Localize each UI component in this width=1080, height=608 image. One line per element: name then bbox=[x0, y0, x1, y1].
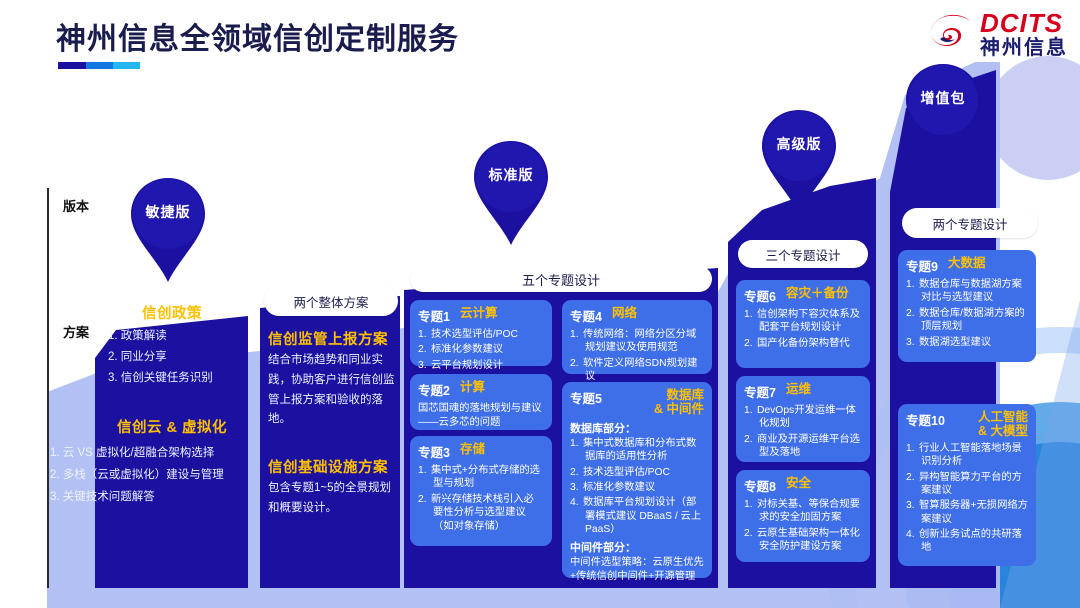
topic-card-1-no: 专题1 bbox=[418, 306, 450, 325]
topic-card-8-topic: 安全 bbox=[786, 476, 811, 490]
topic-card-9[interactable]: 专题9 大数据 1.数据仓库与数据湖方案对比与选型建议 2.数据仓库/数据湖方案… bbox=[898, 250, 1036, 362]
list-item: 1.行业人工智能落地场景识别分析 bbox=[906, 442, 1028, 469]
policy-item-2: 2. 同业分享 bbox=[108, 347, 167, 367]
axis-label-version: 版本 bbox=[63, 196, 89, 215]
topic-card-2-note: 国芯国魂的落地规划与建议——云多芯的问题 bbox=[418, 402, 544, 429]
topic-card-10-no: 专题10 bbox=[906, 410, 945, 429]
plan-head-infrastructure: 信创基础设施方案 bbox=[268, 456, 402, 477]
cloud-virt-item-1: 1. 云 VS 虚拟化/超融合架构选择 bbox=[50, 443, 288, 463]
list-item: 1.集中式数据库和分布式数据库的适用性分析 bbox=[570, 437, 704, 464]
topic-card-1[interactable]: 专题1 云计算 1.技术选型评估/POC 2.标准化参数建议 3.云平台规划设计 bbox=[410, 300, 552, 366]
pin-label-agile: 敏捷版 bbox=[125, 202, 211, 222]
list-item: 1.信创架构下容灾体系及配套平台规划设计 bbox=[744, 308, 862, 335]
list-item: 1.数据仓库与数据湖方案对比与选型建议 bbox=[906, 278, 1028, 305]
topic-card-5-head: 专题5 数据库 & 中间件 bbox=[570, 388, 704, 417]
topic-card-7-head: 专题7 运维 bbox=[744, 382, 862, 401]
list-item: 1.集中式+分布式存储的选型与规划 bbox=[418, 464, 544, 491]
list-item: 2.技术选型评估/POC bbox=[570, 466, 704, 479]
topic-card-2-no: 专题2 bbox=[418, 380, 450, 399]
list-item: 2.标准化参数建议 bbox=[418, 343, 544, 356]
topic-card-10[interactable]: 专题10 人工智能 & 大模型 1.行业人工智能落地场景识别分析 2.异构智能算… bbox=[898, 404, 1036, 566]
topic-card-7-topic: 运维 bbox=[786, 382, 811, 396]
list-item: 3.标准化参数建议 bbox=[570, 481, 704, 494]
pin-agile[interactable]: 敏捷版 bbox=[125, 176, 211, 284]
topic-card-5-topic: 数据库 & 中间件 bbox=[610, 388, 704, 417]
policy-item-1: 1. 政策解读 bbox=[108, 326, 167, 346]
plan-head-supervision: 信创监管上报方案 bbox=[268, 328, 402, 349]
topic-card-5-subhead-mw: 中间件部分： bbox=[570, 539, 704, 555]
topic-card-7-list: 1.DevOps开发运维一体化规划 2.商业及开源运维平台选型及落地 bbox=[744, 404, 862, 460]
list-item: 4.创新业务试点的共研落地 bbox=[906, 528, 1028, 555]
list-item: 3.数据湖选型建议 bbox=[906, 336, 1028, 349]
title-underline-rule bbox=[58, 62, 140, 69]
topic-card-6-no: 专题6 bbox=[744, 286, 776, 305]
topic-card-10-list: 1.行业人工智能落地场景识别分析 2.异构智能算力平台的方案建议 3.智算服务器… bbox=[906, 442, 1028, 555]
pin-valueadd[interactable]: 增值包 bbox=[900, 62, 986, 170]
pin-shape-icon bbox=[125, 176, 211, 284]
topic-card-1-head: 专题1 云计算 bbox=[418, 306, 544, 325]
column-overall-plans: 两个整体方案 信创监管上报方案 结合市场趋势和同业实践，协助客户进行信创监管上报… bbox=[262, 286, 402, 588]
list-item: 2.新兴存储技术栈引入必要性分析与选型建议（如对象存储） bbox=[418, 493, 544, 533]
pin-shape-icon bbox=[468, 139, 554, 247]
brand-logo: DCITS 神州信息 bbox=[928, 10, 1068, 58]
cloud-virt-item-3: 3. 关键技术问题解答 bbox=[50, 487, 288, 507]
pill-two-overall-plans[interactable]: 两个整体方案 bbox=[264, 286, 398, 316]
topic-card-5-no: 专题5 bbox=[570, 388, 602, 407]
topic-card-5-subhead-db: 数据库部分： bbox=[570, 420, 704, 436]
list-item: 1.DevOps开发运维一体化规划 bbox=[744, 404, 862, 431]
topic-card-6-topic: 容灾＋备份 bbox=[786, 286, 849, 300]
topic-card-6[interactable]: 专题6 容灾＋备份 1.信创架构下容灾体系及配套平台规划设计 2.国产化备份架构… bbox=[736, 280, 870, 368]
topic-card-8-head: 专题8 安全 bbox=[744, 476, 862, 495]
list-item: 2.软件定义网络SDN规划建议 bbox=[570, 357, 704, 384]
pill-two-topics[interactable]: 两个专题设计 bbox=[902, 208, 1038, 238]
topic-card-5[interactable]: 专题5 数据库 & 中间件 数据库部分： 1.集中式数据库和分布式数据库的适用性… bbox=[562, 382, 712, 578]
topic-card-9-list: 1.数据仓库与数据湖方案对比与选型建议 2.数据仓库/数据湖方案的顶层规划 3.… bbox=[906, 278, 1028, 349]
column-three-topics: 三个专题设计 专题6 容灾＋备份 1.信创架构下容灾体系及配套平台规划设计 2.… bbox=[732, 240, 874, 588]
pin-shape-icon bbox=[900, 62, 986, 170]
column-agile: 信创政策 1. 政策解读 2. 同业分享 3. 信创关键任务识别 信创云 & 虚… bbox=[96, 300, 248, 588]
topic-card-10-head: 专题10 人工智能 & 大模型 bbox=[906, 410, 1028, 439]
list-item: 2.数据仓库/数据湖方案的顶层规划 bbox=[906, 307, 1028, 334]
column-two-topics: 两个专题设计 专题9 大数据 1.数据仓库与数据湖方案对比与选型建议 2.数据仓… bbox=[894, 208, 1044, 588]
plan-text-infrastructure: 包含专题1~5的全景规划和概要设计。 bbox=[268, 478, 400, 518]
pin-label-valueadd: 增值包 bbox=[900, 88, 986, 108]
topic-card-8-list: 1.对标关基、等保合规要求的安全加固方案 2.云原生基础架构一体化安全防护建设方… bbox=[744, 498, 862, 554]
list-item: 4.数据库平台规划设计（部署模式建议 DBaaS / 云上PaaS） bbox=[570, 496, 704, 536]
topic-card-3-no: 专题3 bbox=[418, 442, 450, 461]
topic-card-5-list: 1.集中式数据库和分布式数据库的适用性分析 2.技术选型评估/POC 3.标准化… bbox=[570, 437, 704, 537]
axis-label-solution: 方案 bbox=[63, 322, 89, 341]
pin-label-standard: 标准版 bbox=[468, 165, 554, 185]
topic-card-3-topic: 存储 bbox=[460, 442, 485, 456]
topic-card-4[interactable]: 专题4 网络 1.传统网络：网络分区分域规划建议及使用规范 2.软件定义网络SD… bbox=[562, 300, 712, 374]
slide-canvas: 神州信息全领域信创定制服务 DCITS 神州信息 版本 方案 敏捷版 标准版 bbox=[0, 0, 1080, 608]
topic-card-10-topic: 人工智能 & 大模型 bbox=[951, 410, 1028, 439]
topic-card-6-list: 1.信创架构下容灾体系及配套平台规划设计 2.国产化备份架构替代 bbox=[744, 308, 862, 350]
page-title: 神州信息全领域信创定制服务 bbox=[56, 14, 459, 58]
topic-card-2[interactable]: 专题2 计算 国芯国魂的落地规划与建议——云多芯的问题 bbox=[410, 374, 552, 430]
plan-text-supervision: 结合市场趋势和同业实践，协助客户进行信创监管上报方案和验收的落地。 bbox=[268, 350, 400, 429]
list-item: 2.商业及开源运维平台选型及落地 bbox=[744, 433, 862, 460]
topic-card-4-list: 1.传统网络：网络分区分域规划建议及使用规范 2.软件定义网络SDN规划建议 bbox=[570, 328, 704, 384]
list-item: 2.异构智能算力平台的方案建议 bbox=[906, 471, 1028, 498]
topic-card-3-list: 1.集中式+分布式存储的选型与规划 2.新兴存储技术栈引入必要性分析与选型建议（… bbox=[418, 464, 544, 533]
topic-card-9-head: 专题9 大数据 bbox=[906, 256, 1028, 275]
dcits-swirl-icon bbox=[928, 12, 974, 56]
list-item: 3.云平台规划设计 bbox=[418, 359, 544, 372]
axis-vertical-line bbox=[47, 188, 49, 588]
column-five-topics: 五个专题设计 专题1 云计算 1.技术选型评估/POC 2.标准化参数建议 3.… bbox=[406, 266, 716, 588]
list-item: 1.技术选型评估/POC bbox=[418, 328, 544, 341]
topic-card-9-no: 专题9 bbox=[906, 256, 938, 275]
topic-card-7-no: 专题7 bbox=[744, 382, 776, 401]
logo-text-en: DCITS bbox=[980, 10, 1068, 36]
list-item: 1.传统网络：网络分区分域规划建议及使用规范 bbox=[570, 328, 704, 355]
topic-card-6-head: 专题6 容灾＋备份 bbox=[744, 286, 862, 305]
list-item: 3.智算服务器+无损网络方案建议 bbox=[906, 499, 1028, 526]
topic-card-3-head: 专题3 存储 bbox=[418, 442, 544, 461]
topic-card-2-head: 专题2 计算 bbox=[418, 380, 544, 399]
list-item: 1.对标关基、等保合规要求的安全加固方案 bbox=[744, 498, 862, 525]
pin-shape-icon bbox=[756, 108, 842, 216]
topic-card-1-list: 1.技术选型评估/POC 2.标准化参数建议 3.云平台规划设计 bbox=[418, 328, 544, 372]
topic-card-4-head: 专题4 网络 bbox=[570, 306, 704, 325]
topic-card-8-no: 专题8 bbox=[744, 476, 776, 495]
pill-three-topics[interactable]: 三个专题设计 bbox=[738, 240, 868, 268]
topic-card-5-note: 中间件选型策略：云原生优先+传统信创中间件+开源管理 bbox=[570, 556, 704, 583]
topic-card-1-topic: 云计算 bbox=[460, 306, 498, 320]
topic-card-2-topic: 计算 bbox=[460, 380, 485, 394]
topic-card-4-no: 专题4 bbox=[570, 306, 602, 325]
pin-advanced[interactable]: 高级版 bbox=[756, 108, 842, 216]
topic-card-9-topic: 大数据 bbox=[948, 256, 986, 270]
topic-card-7[interactable]: 专题7 运维 1.DevOps开发运维一体化规划 2.商业及开源运维平台选型及落… bbox=[736, 376, 870, 462]
policy-item-3: 3. 信创关键任务识别 bbox=[108, 368, 213, 388]
topic-card-3[interactable]: 专题3 存储 1.集中式+分布式存储的选型与规划 2.新兴存储技术栈引入必要性分… bbox=[410, 436, 552, 546]
topic-card-8[interactable]: 专题8 安全 1.对标关基、等保合规要求的安全加固方案 2.云原生基础架构一体化… bbox=[736, 470, 870, 562]
list-item: 2.国产化备份架构替代 bbox=[744, 337, 862, 350]
pin-standard[interactable]: 标准版 bbox=[468, 139, 554, 247]
cloud-virt-item-2: 2. 多栈（云或虚拟化）建设与管理 bbox=[50, 465, 288, 485]
pill-five-topics[interactable]: 五个专题设计 bbox=[410, 266, 712, 292]
topic-card-4-topic: 网络 bbox=[612, 306, 637, 320]
section-head-policy: 信创政策 bbox=[96, 302, 248, 323]
section-head-cloud-virt: 信创云 & 虚拟化 bbox=[56, 416, 288, 437]
pin-label-advanced: 高级版 bbox=[756, 134, 842, 154]
list-item: 2.云原生基础架构一体化安全防护建设方案 bbox=[744, 527, 862, 554]
logo-text-cn: 神州信息 bbox=[980, 38, 1068, 58]
